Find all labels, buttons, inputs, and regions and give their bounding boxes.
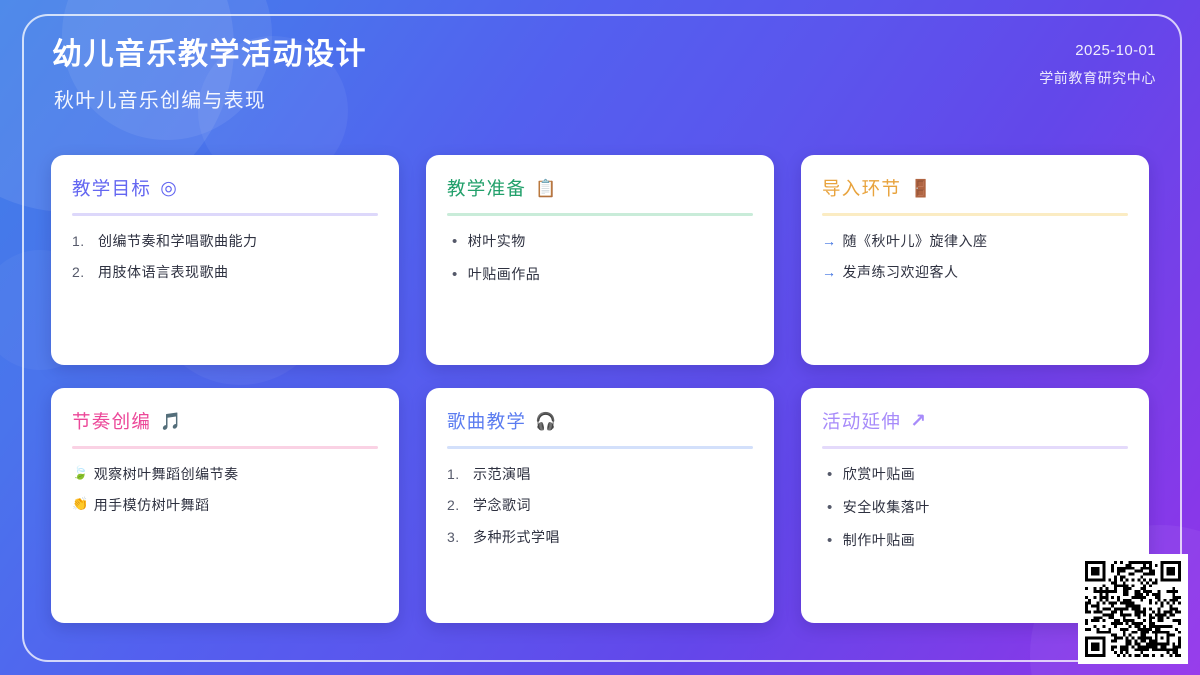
clipboard-icon: 📋 xyxy=(535,180,556,197)
list-marker: → xyxy=(822,231,837,251)
title-group: 幼儿音乐教学活动设计 秋叶儿音乐创编与表现 xyxy=(52,36,367,113)
list-item-text: 示范演唱 xyxy=(473,464,531,484)
card-title: 教学准备 xyxy=(447,175,526,201)
list-item-text: 多种形式学唱 xyxy=(473,527,560,547)
card-body: →随《秋叶儿》旋律入座→发声练习欢迎客人 xyxy=(822,231,1128,283)
list-item: •制作叶贴画 xyxy=(822,530,1128,552)
list-marker: 2. xyxy=(72,262,91,282)
headphones-icon: 🎧 xyxy=(535,413,556,430)
card-title: 节奏创编 xyxy=(72,408,151,434)
list-item: 👏用手模仿树叶舞蹈 xyxy=(72,495,378,515)
list-item-text: 树叶实物 xyxy=(468,231,526,251)
list-item: •安全收集落叶 xyxy=(822,497,1128,519)
card-clipboard[interactable]: 教学准备📋•树叶实物•叶贴画作品 xyxy=(426,155,774,365)
list-marker: 3. xyxy=(447,527,466,547)
card-target[interactable]: 教学目标◎1.创编节奏和学唱歌曲能力2.用肢体语言表现歌曲 xyxy=(51,155,399,365)
card-title: 活动延伸 xyxy=(822,408,901,434)
card-header: 教学准备📋 xyxy=(447,175,753,201)
card-list: →随《秋叶儿》旋律入座→发声练习欢迎客人 xyxy=(822,231,1128,283)
qr-code-image xyxy=(1085,561,1181,657)
card-body: •树叶实物•叶贴画作品 xyxy=(447,231,753,286)
card-divider xyxy=(72,213,378,216)
card-header: 节奏创编🎵 xyxy=(72,408,378,434)
qr-code[interactable] xyxy=(1078,554,1188,664)
list-item: →发声练习欢迎客人 xyxy=(822,262,1128,282)
target-icon: ◎ xyxy=(160,179,177,198)
card-title: 歌曲教学 xyxy=(447,408,526,434)
card-list: •树叶实物•叶贴画作品 xyxy=(447,231,753,286)
list-marker: • xyxy=(827,530,833,552)
card-body: 🍃观察树叶舞蹈创编节奏👏用手模仿树叶舞蹈 xyxy=(72,464,378,516)
list-item-text: 用肢体语言表现歌曲 xyxy=(98,262,229,282)
card-body: 1.示范演唱2.学念歌词3.多种形式学唱 xyxy=(447,464,753,547)
list-item-text: 观察树叶舞蹈创编节奏 xyxy=(94,464,239,484)
card-grid: 教学目标◎1.创编节奏和学唱歌曲能力2.用肢体语言表现歌曲教学准备📋•树叶实物•… xyxy=(51,155,1149,623)
slide-header: 幼儿音乐教学活动设计 秋叶儿音乐创编与表现 2025-10-01 学前教育研究中… xyxy=(52,36,1156,113)
card-headphones[interactable]: 歌曲教学🎧1.示范演唱2.学念歌词3.多种形式学唱 xyxy=(426,388,774,623)
card-divider xyxy=(822,213,1128,216)
organization-label: 学前教育研究中心 xyxy=(1039,68,1156,88)
card-door[interactable]: 导入环节🚪→随《秋叶儿》旋律入座→发声练习欢迎客人 xyxy=(801,155,1149,365)
card-divider xyxy=(72,446,378,449)
card-header: 活动延伸↗ xyxy=(822,408,1128,434)
list-marker: → xyxy=(822,262,837,282)
card-title: 教学目标 xyxy=(72,175,151,201)
list-item: 🍃观察树叶舞蹈创编节奏 xyxy=(72,464,378,484)
list-marker: 👏 xyxy=(72,495,89,514)
list-marker: 1. xyxy=(72,231,91,251)
list-item-text: 创编节奏和学唱歌曲能力 xyxy=(98,231,258,251)
card-music-note[interactable]: 节奏创编🎵🍃观察树叶舞蹈创编节奏👏用手模仿树叶舞蹈 xyxy=(51,388,399,623)
list-item-text: 制作叶贴画 xyxy=(843,530,916,550)
list-marker: • xyxy=(452,231,458,253)
list-item: •欣赏叶贴画 xyxy=(822,464,1128,486)
card-header: 歌曲教学🎧 xyxy=(447,408,753,434)
list-item: →随《秋叶儿》旋律入座 xyxy=(822,231,1128,251)
list-item-text: 发声练习欢迎客人 xyxy=(843,262,959,282)
header-meta: 2025-10-01 学前教育研究中心 xyxy=(1039,36,1156,88)
list-marker: • xyxy=(827,464,833,486)
list-item-text: 随《秋叶儿》旋律入座 xyxy=(843,231,988,251)
list-item-text: 欣赏叶贴画 xyxy=(843,464,916,484)
card-title: 导入环节 xyxy=(822,175,901,201)
list-item-text: 学念歌词 xyxy=(473,495,531,515)
card-body: •欣赏叶贴画•安全收集落叶•制作叶贴画 xyxy=(822,464,1128,551)
card-list: 1.创编节奏和学唱歌曲能力2.用肢体语言表现歌曲 xyxy=(72,231,378,283)
list-marker: • xyxy=(827,497,833,519)
list-item: 1.创编节奏和学唱歌曲能力 xyxy=(72,231,378,251)
page-subtitle: 秋叶儿音乐创编与表现 xyxy=(54,84,367,113)
card-divider xyxy=(447,213,753,216)
list-item-text: 用手模仿树叶舞蹈 xyxy=(94,495,210,515)
list-marker: 2. xyxy=(447,495,466,515)
door-icon: 🚪 xyxy=(910,180,931,197)
list-marker: • xyxy=(452,264,458,286)
list-item: •树叶实物 xyxy=(447,231,753,253)
card-body: 1.创编节奏和学唱歌曲能力2.用肢体语言表现歌曲 xyxy=(72,231,378,283)
card-divider xyxy=(822,446,1128,449)
music-note-icon: 🎵 xyxy=(160,413,181,430)
list-item: 3.多种形式学唱 xyxy=(447,527,753,547)
list-item-text: 叶贴画作品 xyxy=(468,264,541,284)
card-divider xyxy=(447,446,753,449)
external-link-icon: ↗ xyxy=(910,412,926,431)
card-header: 教学目标◎ xyxy=(72,175,378,201)
list-item: 1.示范演唱 xyxy=(447,464,753,484)
card-header: 导入环节🚪 xyxy=(822,175,1128,201)
card-list: 🍃观察树叶舞蹈创编节奏👏用手模仿树叶舞蹈 xyxy=(72,464,378,516)
page-title: 幼儿音乐教学活动设计 xyxy=(52,36,367,74)
date-label: 2025-10-01 xyxy=(1075,42,1156,59)
list-item: •叶贴画作品 xyxy=(447,264,753,286)
list-item: 2.用肢体语言表现歌曲 xyxy=(72,262,378,282)
card-list: •欣赏叶贴画•安全收集落叶•制作叶贴画 xyxy=(822,464,1128,551)
card-list: 1.示范演唱2.学念歌词3.多种形式学唱 xyxy=(447,464,753,547)
list-item: 2.学念歌词 xyxy=(447,495,753,515)
list-item-text: 安全收集落叶 xyxy=(843,497,930,517)
list-marker: 🍃 xyxy=(72,464,89,483)
list-marker: 1. xyxy=(447,464,466,484)
